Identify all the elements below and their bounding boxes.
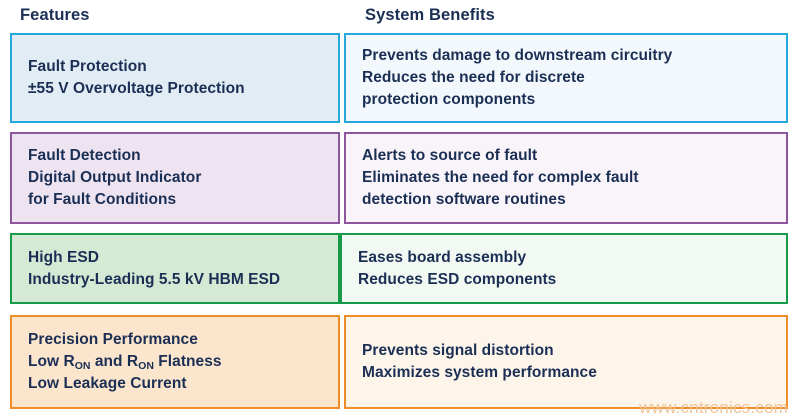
feature-line: for Fault Conditions [28, 189, 324, 211]
benefit-line: Prevents damage to downstream circuitry [362, 45, 772, 67]
table-row: Fault Protection ±55 V Overvoltage Prote… [0, 33, 800, 123]
features-cell: Precision Performance Low RON and RON Fl… [10, 315, 340, 409]
benefit-line: detection software routines [362, 189, 772, 211]
benefit-line: Prevents signal distortion [362, 340, 772, 362]
column-header-system-benefits: System Benefits [365, 6, 495, 25]
feature-line: ±55 V Overvoltage Protection [28, 78, 324, 100]
table-row: Fault Detection Digital Output Indicator… [0, 132, 800, 224]
benefit-line: Maximizes system performance [362, 362, 772, 384]
benefit-line: Eases board assembly [358, 247, 772, 269]
feature-line: Low Leakage Current [28, 373, 324, 395]
feature-line: Low RON and RON Flatness [28, 351, 324, 373]
benefits-cell: Prevents damage to downstream circuitry … [344, 33, 788, 123]
features-cell: Fault Protection ±55 V Overvoltage Prote… [10, 33, 340, 123]
benefit-line: Reduces the need for discrete [362, 67, 772, 89]
column-header-features: Features [20, 6, 90, 25]
benefit-line: Alerts to source of fault [362, 145, 772, 167]
feature-line: Digital Output Indicator [28, 167, 324, 189]
feature-line: Industry-Leading 5.5 kV HBM ESD [28, 269, 324, 291]
benefits-cell: Eases board assembly Reduces ESD compone… [340, 233, 788, 304]
feature-line: Precision Performance [28, 329, 324, 351]
table-header-row: Features System Benefits [0, 0, 800, 33]
benefits-cell: Prevents signal distortion Maximizes sys… [344, 315, 788, 409]
benefit-line: Eliminates the need for complex fault [362, 167, 772, 189]
benefits-cell: Alerts to source of fault Eliminates the… [344, 132, 788, 224]
features-cell: Fault Detection Digital Output Indicator… [10, 132, 340, 224]
feature-line: Fault Detection [28, 145, 324, 167]
features-cell: High ESD Industry-Leading 5.5 kV HBM ESD [10, 233, 340, 304]
feature-line: High ESD [28, 247, 324, 269]
features-benefits-table: Features System Benefits Fault Protectio… [0, 0, 800, 419]
table-row: High ESD Industry-Leading 5.5 kV HBM ESD… [0, 233, 800, 304]
benefit-line: Reduces ESD components [358, 269, 772, 291]
benefit-line: protection components [362, 89, 772, 111]
table-row: Precision Performance Low RON and RON Fl… [0, 315, 800, 409]
feature-line: Fault Protection [28, 56, 324, 78]
